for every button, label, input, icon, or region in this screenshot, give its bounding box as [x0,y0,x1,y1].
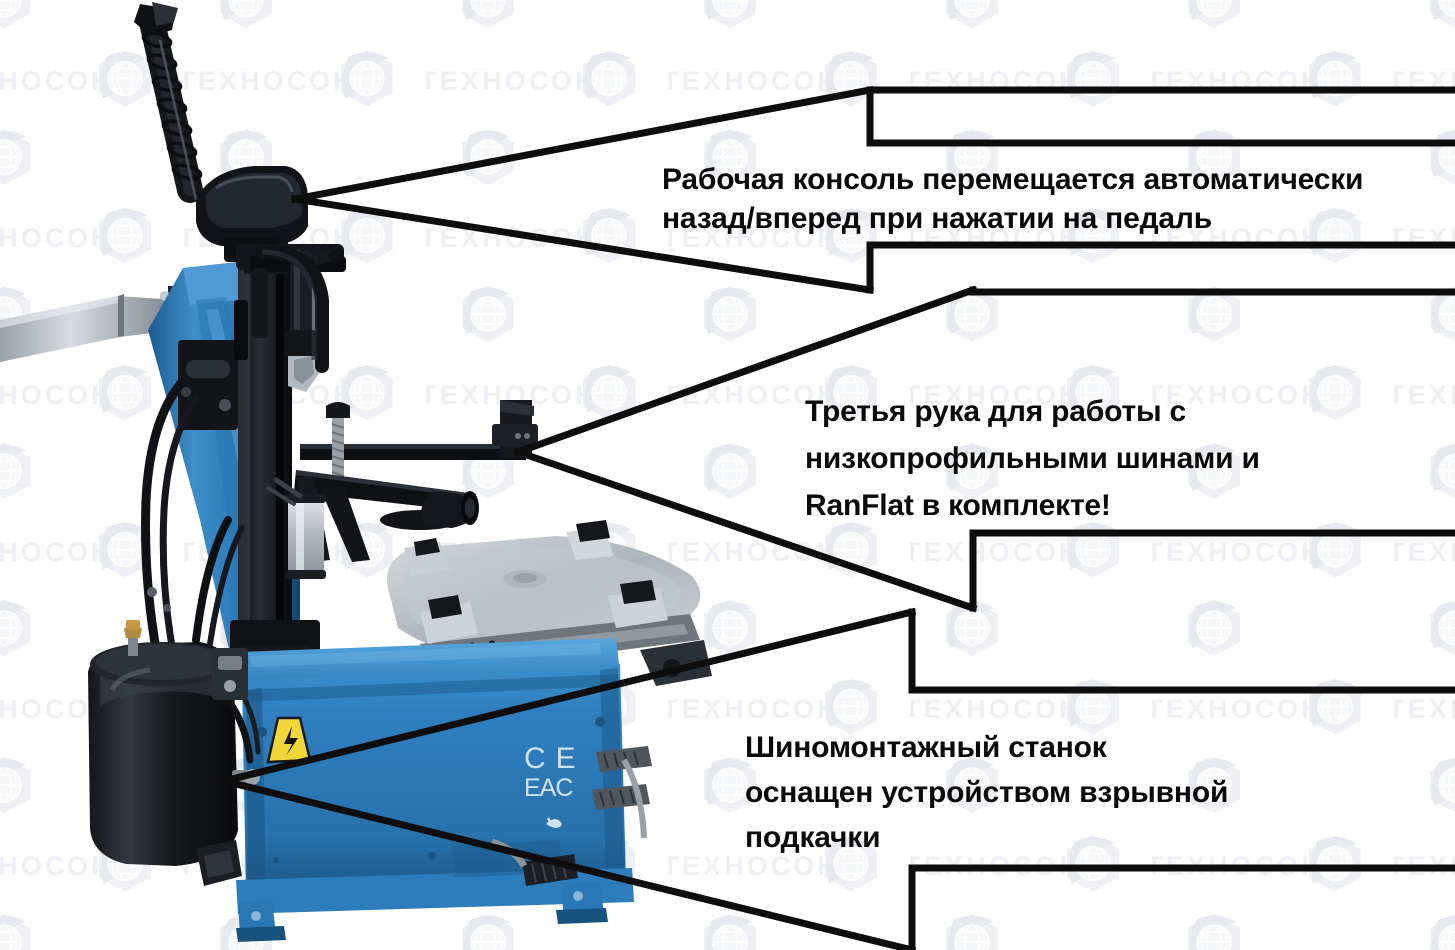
callout-line: Шиномонтажный станок [745,725,1405,770]
product-callout-image: ТЕХНОСОЮЗ ® [0,0,1455,950]
callout-text-third-arm: Третья рука для работы с низкопрофильным… [805,388,1445,529]
callout-bracket-console-lower [870,245,1455,290]
callout-line: RanFlat в комплекте! [805,482,1445,529]
helper-arm [294,400,538,562]
callout-bracket-third-arm-lower [973,533,1455,608]
callout-bracket-third-arm [973,290,1455,292]
clamp-jaw [404,538,450,576]
callout-line: Рабочая консоль перемещается автоматичес… [662,160,1437,199]
callout-text-explosive-inflation: Шиномонтажный станок оснащен устройством… [745,725,1405,860]
callout-line: назад/вперед при нажатии на педаль [662,199,1437,238]
callout-line: низкопрофильными шинами и [805,435,1445,482]
callout-text-working-console: Рабочая консоль перемещается автоматичес… [662,160,1437,238]
ce-mark: C E [524,742,578,775]
eac-mark: EAC [524,774,573,802]
svg-text:C E: C E [524,742,578,775]
callout-line: подкачки [745,815,1405,860]
drain-pedal [196,840,242,886]
machine-body: C E EAC [236,638,634,942]
svg-text:EAC: EAC [524,774,573,802]
hose-coil-spring [134,2,202,200]
callout-bracket-inflator [912,612,1455,690]
tyre-changer-photo: C E EAC [0,0,760,950]
callout-bracket-inflator-lower [912,868,1455,950]
callout-line: оснащен устройством взрывной [745,770,1405,815]
callout-line: Третья рука для работы с [805,388,1445,435]
callout-bracket-console [870,90,1455,143]
valve-block [212,648,248,700]
